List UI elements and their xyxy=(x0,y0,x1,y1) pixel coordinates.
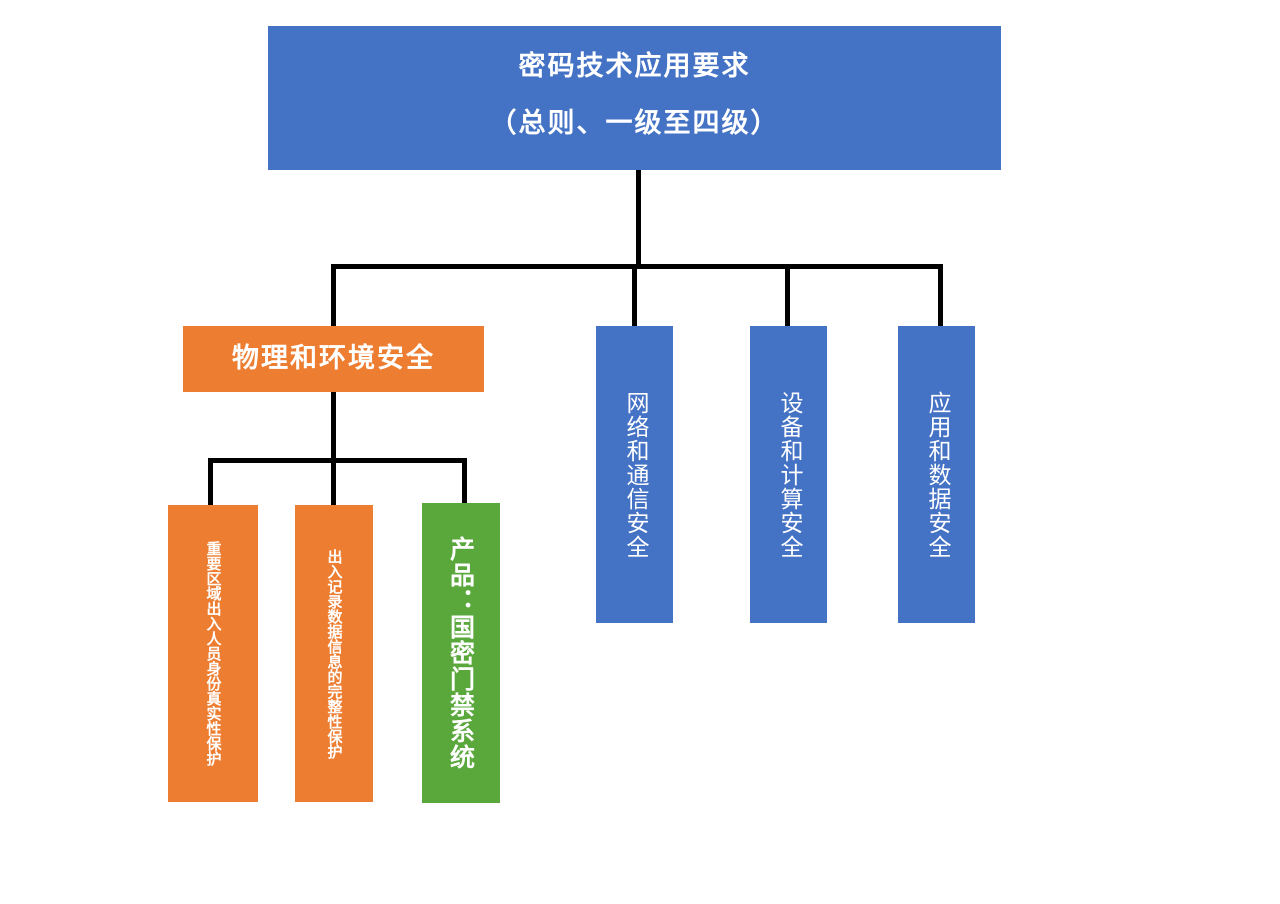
connector-drop-physical xyxy=(331,264,336,326)
connector-drop-network xyxy=(632,264,637,326)
node-physical-label: 物理和环境安全 xyxy=(232,343,435,375)
diagram-canvas: 密码技术应用要求 （总则、一级至四级） 物理和环境安全 网络和通信安全 设备和计… xyxy=(0,0,1280,904)
connector-level2-bus xyxy=(331,264,943,269)
connector-drop-record-integrity xyxy=(331,458,336,505)
node-appdata-label: 应用和数据安全 xyxy=(925,391,948,559)
connector-drop-product xyxy=(462,458,467,505)
node-network-label: 网络和通信安全 xyxy=(623,391,646,559)
node-physical-environment-security[interactable]: 物理和环境安全 xyxy=(183,326,484,392)
node-root-requirements[interactable]: 密码技术应用要求 （总则、一级至四级） xyxy=(268,26,1001,170)
connector-drop-area-identity xyxy=(208,458,213,505)
node-device-label: 设备和计算安全 xyxy=(777,391,800,559)
node-root-line2: （总则、一级至四级） xyxy=(490,108,780,140)
node-product-label: 产品：国密门禁系统 xyxy=(449,536,474,770)
node-area-identity-label: 重要区域出入人员身份真实性保护 xyxy=(206,541,221,766)
node-record-integrity-protection[interactable]: 出入记录数据信息的完整性保护 xyxy=(295,505,373,802)
connector-drop-appdata xyxy=(938,264,943,326)
node-root-line1: 密码技术应用要求 xyxy=(519,51,751,83)
connector-physical-stem xyxy=(331,392,336,461)
node-product-access-control-system[interactable]: 产品：国密门禁系统 xyxy=(422,503,500,803)
connector-drop-device xyxy=(785,264,790,326)
node-device-computing-security[interactable]: 设备和计算安全 xyxy=(750,326,827,623)
node-network-communication-security[interactable]: 网络和通信安全 xyxy=(596,326,673,623)
node-record-integrity-label: 出入记录数据信息的完整性保护 xyxy=(327,549,342,759)
connector-root-stem xyxy=(636,170,641,267)
connector-level3-bus xyxy=(208,458,467,463)
node-area-identity-protection[interactable]: 重要区域出入人员身份真实性保护 xyxy=(168,505,258,802)
node-application-data-security[interactable]: 应用和数据安全 xyxy=(898,326,975,623)
